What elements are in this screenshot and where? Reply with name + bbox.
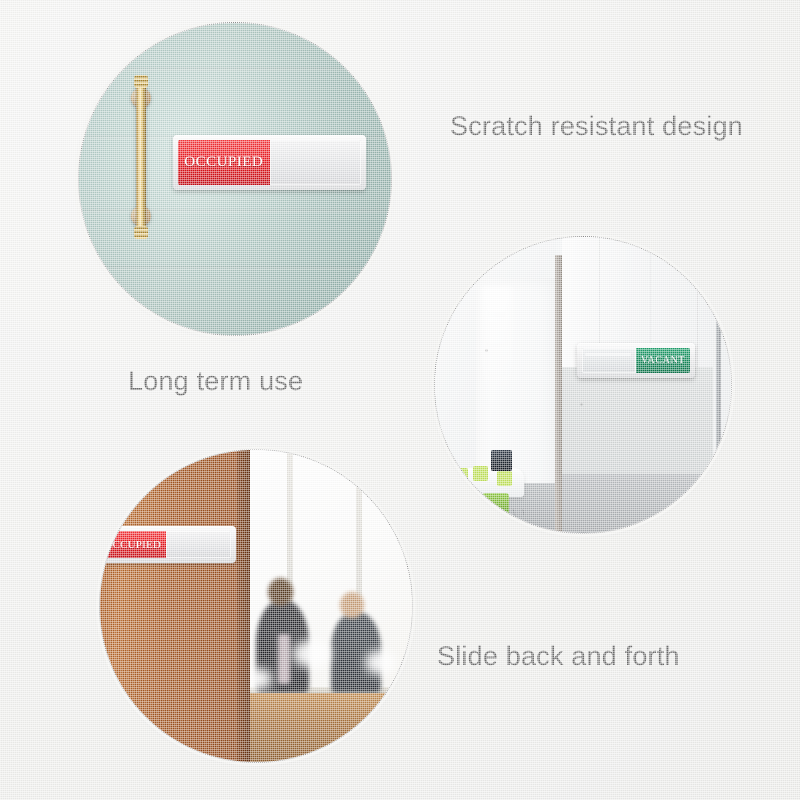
sign-track: OCCUPIED bbox=[178, 140, 361, 185]
wooden-door-edge bbox=[237, 450, 249, 762]
wooden-door bbox=[100, 450, 250, 762]
scene-mint-door: OCCUPIED bbox=[79, 23, 391, 335]
caption-long-term-use: Long term use bbox=[128, 366, 303, 397]
scene-wood-door-meeting: OCCUPIED bbox=[100, 450, 412, 762]
corridor-corner-edge bbox=[716, 237, 721, 533]
sign-blank-pane[interactable] bbox=[582, 348, 636, 373]
photo-bubble-mint-door: OCCUPIED bbox=[78, 22, 392, 336]
handle-knurl bbox=[134, 75, 148, 88]
sign-status-pane-vacant[interactable]: VACANT bbox=[636, 348, 690, 373]
meeting-person-head bbox=[340, 592, 363, 619]
slider-sign-occupied[interactable]: OCCUPIED bbox=[173, 135, 366, 190]
product-feature-collage: OCCUPIED bbox=[0, 0, 800, 800]
handle-knurl bbox=[134, 226, 148, 239]
office-chair-back bbox=[497, 471, 512, 486]
sign-status-pane-occupied[interactable]: OCCUPIED bbox=[100, 531, 166, 558]
office-corridor-floor bbox=[562, 474, 731, 533]
slider-sign-occupied[interactable]: OCCUPIED bbox=[99, 526, 236, 563]
chair-legs bbox=[453, 509, 524, 530]
sign-track: VACANT bbox=[582, 348, 690, 373]
sign-blank-pane[interactable] bbox=[166, 531, 232, 558]
handle-bar bbox=[136, 81, 146, 233]
office-chair-back bbox=[473, 466, 488, 481]
caption-slide-back-and-forth: Slide back and forth bbox=[437, 641, 680, 672]
window-light-glow bbox=[482, 287, 512, 405]
meeting-person-tie bbox=[278, 634, 290, 684]
sign-status-pane-occupied[interactable]: OCCUPIED bbox=[178, 140, 270, 185]
caption-scratch-resistant: Scratch resistant design bbox=[450, 111, 743, 142]
photo-bubble-wood-door: OCCUPIED bbox=[99, 449, 413, 763]
meeting-room-table bbox=[237, 693, 412, 762]
brass-door-handle bbox=[128, 81, 154, 233]
wall-fixture-dot bbox=[580, 403, 583, 406]
photo-bubble-office-corridor: VACANT bbox=[434, 236, 732, 534]
window-bokeh-glow bbox=[365, 650, 396, 675]
sign-track: OCCUPIED bbox=[100, 531, 231, 558]
scene-office-corridor: VACANT bbox=[435, 237, 731, 533]
slider-sign-vacant[interactable]: VACANT bbox=[577, 343, 695, 378]
desk-phone bbox=[491, 450, 512, 471]
sign-blank-pane[interactable] bbox=[270, 140, 362, 185]
office-chair-back bbox=[453, 468, 468, 483]
